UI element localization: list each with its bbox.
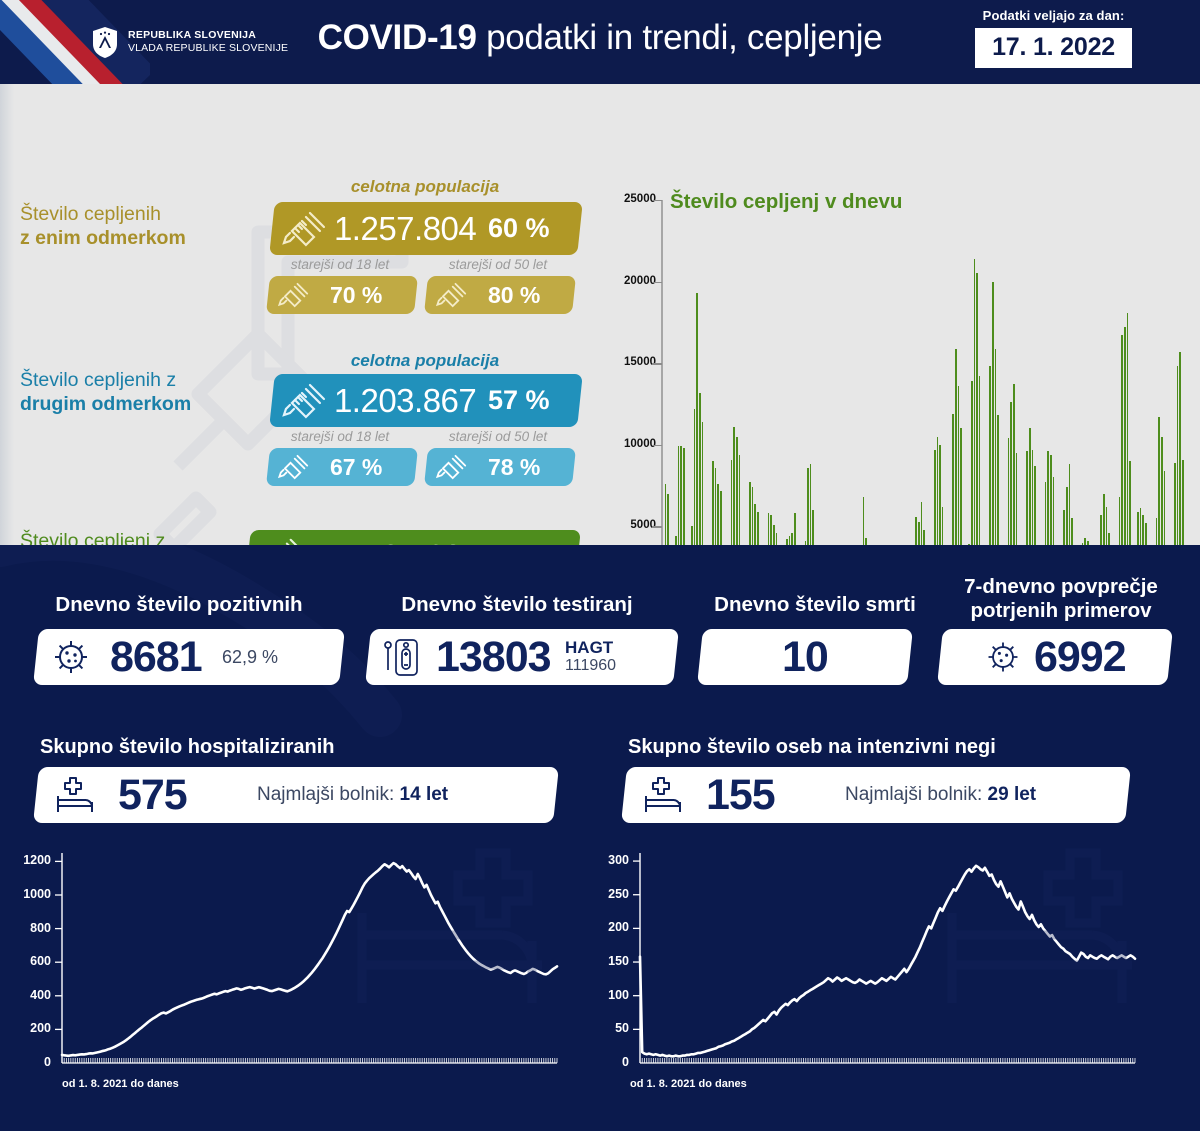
bar-chart-bar [810,464,812,545]
syringe-icon [278,453,310,481]
dose1-age18-badge[interactable]: 70 % [266,276,418,314]
line-chart-y-tick-label: 250 [608,887,629,901]
bar-chart-bar [958,386,960,545]
dose1-label-line2: z enim odmerkom [20,227,186,251]
bar-chart-bar [960,428,962,545]
bar-chart-bar [939,445,941,545]
positives-value: 8681 [110,633,202,682]
line-chart-y-tick-label: 50 [615,1021,629,1035]
bar-chart-bar [1047,451,1049,545]
daily-vaccinations-chart: Število cepljenj v dnevu 050001000015000… [612,182,1192,545]
dose2-percent: 57 % [488,385,550,416]
rapid-test-icon [382,636,422,678]
bar-chart-bar [794,513,796,545]
bar-chart-bar [683,448,685,545]
line-chart-y-tick-label: 200 [608,920,629,934]
line-chart-y-tick-label: 200 [30,1021,51,1035]
bar-chart-bar [934,450,936,545]
page-header: REPUBLIKA SLOVENIJA VLADA REPUBLIKE SLOV… [0,0,1200,84]
dose1-percent: 60 % [488,213,550,244]
bar-chart-bar [921,502,923,545]
syringe-icon [282,381,328,421]
dose2-age18-badge[interactable]: 67 % [266,448,418,486]
bar-chart-bar [1066,487,1068,545]
bar-chart-y-tick-label: 5000 [612,519,656,531]
bar-chart-bar [1008,438,1010,545]
dose1-age50-badge[interactable]: 80 % [424,276,576,314]
syringe-booster-icon: 3x [264,536,312,546]
bar-chart-bar [923,530,925,545]
icu-card[interactable]: 155 Najmlajši bolnik: 29 let [621,767,1131,823]
hospital-value: 575 [118,771,187,820]
line-chart-y-tick-label: 800 [30,921,51,935]
bar-chart-bar [915,517,917,545]
bar-chart-bar [865,538,867,545]
bar-chart-bar [776,533,778,545]
bar-chart-bar [942,507,944,545]
bar-chart-bar [989,366,991,545]
bar-chart-bar [1137,512,1139,545]
bar-chart-bar [678,446,680,545]
bar-chart-bar [997,415,999,545]
bar-chart-plot-area [662,200,1190,545]
line-chart-y-tick-label: 0 [622,1055,629,1069]
vaccination-panel: Število cepljenih z enim odmerkom celotn… [0,84,1200,545]
bar-chart-bar [952,414,954,545]
bar-chart-bar [717,484,719,545]
hospital-title: Skupno število hospitaliziranih [40,736,560,760]
bar-chart-y-tick-label: 20000 [612,275,656,287]
deaths-card[interactable]: 10 [697,629,913,685]
bar-chart-bar [1124,327,1126,545]
bar-chart-bar [1103,494,1105,545]
hospital-card[interactable]: 575 Najmlajši bolnik: 14 let [33,767,559,823]
syringe-icon [282,209,328,249]
icu-chart-caption: od 1. 8. 2021 do danes [630,1078,747,1090]
bar-chart-bar [754,504,756,545]
bar-chart-bar [1063,510,1065,545]
date-value: 17. 1. 2022 [975,28,1132,68]
dose1-sub2-caption: starejši od 50 let [424,257,572,272]
line-chart-y-tick-label: 300 [608,853,629,867]
tests-side: HAGT 111960 [565,639,616,675]
bar-chart-bar [757,512,759,545]
bar-chart-bar [733,427,735,545]
bar-chart-bar [992,282,994,545]
bar-chart-bar [976,273,978,545]
dose1-label: Število cepljenih z enim odmerkom [20,203,186,251]
bar-chart-bar [1016,453,1018,545]
bed-watermark-icon [340,845,570,1045]
bar-chart-bar [1127,313,1129,545]
bar-chart-bar [971,381,973,545]
dose2-total-badge[interactable]: 1.203.867 57 % [269,374,583,427]
icu-youngest-label: Najmlajši bolnik: [845,784,988,805]
bar-chart-y-tick [652,363,662,364]
dose2-sub1-caption: starejši od 18 let [266,429,414,444]
bar-chart-y-tick [652,200,662,201]
average-title: 7-dnevno povprečje potrjenih primerov [936,575,1186,623]
dose2-age18-percent: 67 % [330,454,382,481]
bar-chart-bar [1026,451,1028,545]
bar-chart-bar [1179,352,1181,545]
icu-value: 155 [706,771,775,820]
bar-chart-bar [1129,461,1131,545]
bar-chart-bar [1119,497,1121,545]
line-chart-y-tick-label: 150 [608,954,629,968]
hospitalized-chart: 020040060080010001200 od 1. 8. 2021 do d… [10,845,570,1095]
bar-chart-bar [791,533,793,545]
dose3-total-badge[interactable]: 3x 559.460 [245,530,581,545]
virus-icon [50,636,92,678]
bar-chart-bar [1161,437,1163,545]
line-chart-y-tick-label: 1200 [23,853,51,867]
deaths-title: Dnevno število smrti [688,593,942,617]
hospital-youngest-value: 14 let [399,784,448,805]
bar-chart-bar [1142,515,1144,545]
bar-chart-bar [667,494,669,545]
dose1-age50-percent: 80 % [488,282,540,309]
bar-chart-bar [680,446,682,545]
bar-chart-bar [812,510,814,545]
bar-chart-bar [1084,538,1086,545]
line-chart-x-ticks [62,1058,557,1063]
bar-chart-bar [1145,523,1147,545]
icu-youngest-value: 29 let [987,784,1036,805]
dose3-label-line1: Število cepljenj z [20,530,213,545]
tests-hagt-value: 111960 [565,658,616,675]
bar-chart-bar [770,515,772,545]
line-chart-y-tick-label: 400 [30,988,51,1002]
page-title-rest: podatki in trendi, cepljenje [477,18,883,57]
bar-chart-bar [1182,460,1184,546]
bar-chart-bar [937,437,939,545]
data-date-block: Podatki veljajo za dan: 17. 1. 2022 [975,8,1132,68]
hospital-bed-icon [54,776,100,814]
bar-chart-bar [1121,335,1123,545]
line-chart-y-tick-label: 100 [608,988,629,1002]
bar-chart-bar [979,376,981,545]
dose1-sub1-caption: starejši od 18 let [266,257,414,272]
dose1-caption: celotna populacija [270,177,580,197]
bar-chart-bar [863,497,865,545]
bar-chart-bar [1100,515,1102,545]
bar-chart-bar [1069,464,1071,545]
line-chart-x-ticks [640,1058,1135,1063]
bar-chart-bar [773,525,775,545]
average-value: 6992 [1034,633,1126,682]
bar-chart-bar [696,293,698,545]
dose3-label: Število cepljenj z dodatnim odmerkom [20,530,213,545]
bar-chart-bar [665,484,667,545]
bar-chart-bar [807,468,809,545]
dose1-count: 1.257.804 [334,210,476,248]
bar-chart-bar [918,522,920,545]
positives-percent: 62,9 % [222,647,278,668]
icu-youngest: Najmlajši bolnik: 29 let [845,784,1036,806]
dose1-total-badge[interactable]: 1.257.804 60 % [269,202,583,255]
bar-chart-bar [739,455,741,545]
bar-chart-bar [1177,366,1179,545]
bar-chart-bar [955,349,957,545]
bar-chart-bar [1140,508,1142,545]
hospital-chart-caption: od 1. 8. 2021 do danes [62,1078,179,1090]
hospital-youngest-label: Najmlajši bolnik: [257,784,400,805]
bar-chart-bar [1156,518,1158,545]
dose3-count: 559.460 [346,538,462,546]
bar-chart-bar [1071,518,1073,545]
tests-card[interactable]: 13803 HAGT 111960 [365,629,679,685]
bar-chart-bar [715,468,717,545]
deaths-value: 10 [782,633,828,682]
bar-chart-bar [752,487,754,545]
dose2-label: Število cepljenih z drugim odmerkom [20,369,191,417]
bed-watermark-icon [930,845,1160,1045]
bar-chart-bar [1013,384,1015,545]
hospital-bed-icon [642,776,688,814]
bar-chart-bar [1158,417,1160,545]
positives-card[interactable]: 8681 62,9 % [33,629,345,685]
bar-chart-y-tick [652,445,662,446]
syringe-icon [278,281,310,309]
dose1-age18-percent: 70 % [330,282,382,309]
statistics-panel: Dnevno število pozitivnih 8681 62,9 % Dn… [0,545,1200,1131]
tests-title: Dnevno število testiranj [352,593,682,617]
bar-chart-bar [694,409,696,545]
tests-hagt-label: HAGT [565,639,616,657]
bar-chart-bar [789,536,791,545]
bar-chart-bar [731,460,733,546]
average-title-line1: 7-dnevno povprečje [964,575,1158,598]
dose2-sub2-caption: starejši od 50 let [424,429,572,444]
bar-chart-y-tick [652,526,662,527]
dose2-label-line1: Število cepljenih z [20,369,191,393]
bar-chart-bar [712,461,714,545]
bar-chart-bar [1108,533,1110,545]
dose2-count: 1.203.867 [334,382,476,420]
syringe-icon [436,281,468,309]
bar-chart-bar [749,482,751,545]
bar-chart-bar [1164,471,1166,545]
dose2-label-line2: drugim odmerkom [20,393,191,417]
line-chart-y-tick-label: 600 [30,954,51,968]
bar-chart-bar [995,349,997,545]
bar-chart-y-tick-label: 15000 [612,356,656,368]
line-chart-y-tick-label: 1000 [23,887,51,901]
bar-chart-bar [1174,463,1176,545]
dose1-label-line1: Število cepljenih [20,203,186,227]
positives-title: Dnevno število pozitivnih [14,593,344,617]
bar-chart-bar [1050,455,1052,545]
bar-chart-bar [974,259,976,545]
dose2-age50-percent: 78 % [488,454,540,481]
virus-icon [984,638,1022,676]
bar-chart-y-tick [652,282,662,283]
icu-chart: 050100150200250300 od 1. 8. 2021 do dane… [600,845,1160,1095]
bar-chart-bar [1029,428,1031,545]
bar-chart-bar [1045,482,1047,545]
line-chart-y-tick-label: 0 [44,1055,51,1069]
dose2-age50-badge[interactable]: 78 % [424,448,576,486]
bar-chart-bar [691,526,693,545]
tests-value: 13803 [436,633,551,682]
bar-chart-bar [699,393,701,545]
bar-chart-bar [1034,466,1036,545]
dose2-caption: celotna populacija [270,351,580,371]
bar-chart-bar [1010,402,1012,545]
icu-title: Skupno število oseb na intenzivni negi [628,736,1148,760]
bar-chart-bar [702,422,704,545]
average-title-line2: potrjenih primerov [970,599,1151,622]
bar-chart-bar [1053,477,1055,545]
bar-chart-bar [1032,450,1034,545]
bar-chart-y-tick-label: 10000 [612,438,656,450]
bar-chart-bar [768,513,770,545]
bar-chart-bar [675,536,677,545]
date-label: Podatki veljajo za dan: [975,8,1132,23]
hospital-youngest: Najmlajši bolnik: 14 let [257,784,448,806]
average-card[interactable]: 6992 [937,629,1173,685]
syringe-icon [436,453,468,481]
page-title-bold: COVID-19 [318,18,477,57]
bar-chart-bar [1106,507,1108,545]
bar-chart-bar [720,491,722,546]
bar-chart-y-tick-label: 25000 [612,193,656,205]
bar-chart-bar [736,437,738,545]
